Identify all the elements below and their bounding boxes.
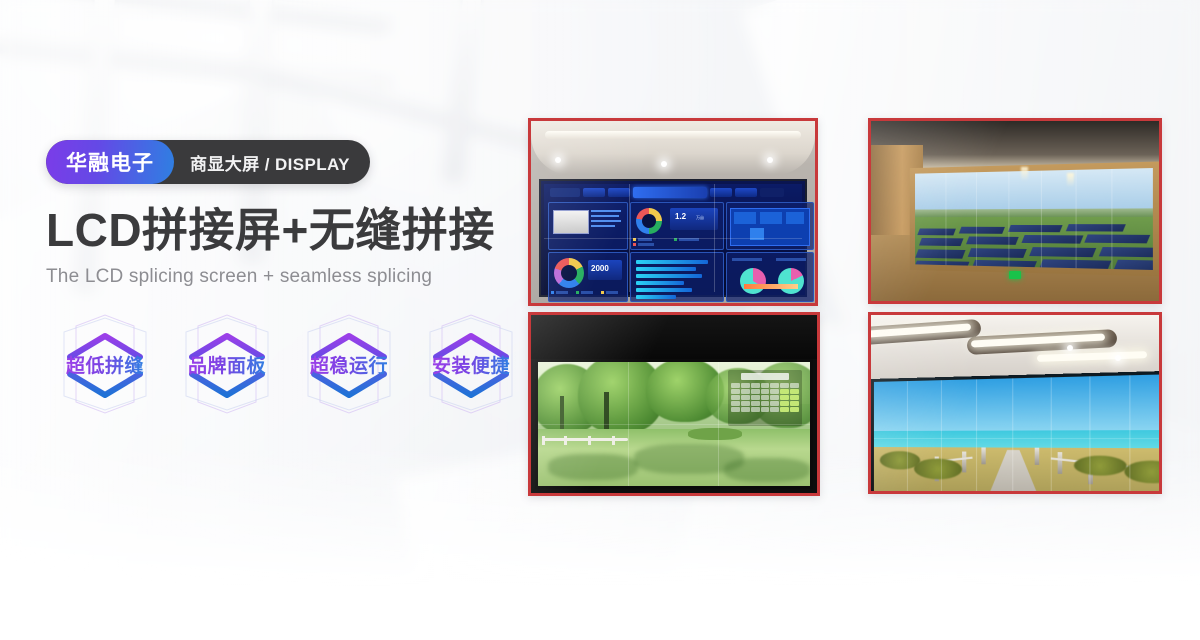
copy-block: 华融电子 商显大屏 / DISPLAY LCD拼接屏+无缝拼接 The LCD … (46, 140, 546, 416)
feature-badge-1[interactable]: 超低拼缝 (46, 312, 164, 416)
brand-badge: 华融电子 商显大屏 / DISPLAY (46, 140, 370, 184)
photo-gallery: 1.2 万亩 (528, 118, 1162, 492)
feature-label: 超低拼缝 (66, 351, 144, 378)
feature-badge-4[interactable]: 安装便捷 (412, 312, 530, 416)
photo-beach-boardwalk-video-wall[interactable] (868, 312, 1162, 494)
photo-willow-lake-video-wall[interactable] (528, 312, 820, 496)
brand-name: 华融电子 (46, 140, 174, 184)
feature-list: 超低拼缝 品牌面板 超稳运行 (46, 312, 546, 416)
feature-label: 超稳运行 (310, 351, 388, 378)
photo-solar-farm-video-wall[interactable] (868, 118, 1162, 304)
feature-badge-2[interactable]: 品牌面板 (168, 312, 286, 416)
feature-label: 安装便捷 (432, 351, 510, 378)
page-subtitle: The LCD splicing screen + seamless splic… (46, 266, 546, 288)
feature-label: 品牌面板 (188, 351, 266, 378)
brand-category: 商显大屏 / DISPLAY (174, 140, 370, 184)
banner-stage: 华融电子 商显大屏 / DISPLAY LCD拼接屏+无缝拼接 The LCD … (0, 0, 1200, 640)
page-title: LCD拼接屏+无缝拼接 (46, 206, 546, 254)
feature-badge-3[interactable]: 超稳运行 (290, 312, 408, 416)
photo-dashboard-video-wall[interactable]: 1.2 万亩 (528, 118, 818, 306)
